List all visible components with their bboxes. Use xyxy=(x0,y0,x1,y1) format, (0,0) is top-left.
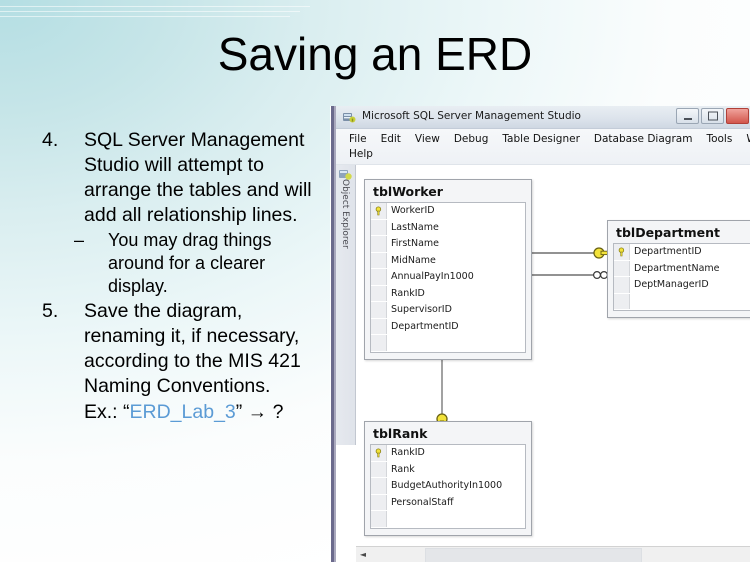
er-field-row[interactable]: AnnualPayIn1000 xyxy=(371,269,525,286)
er-field-label: RankID xyxy=(391,447,425,458)
list-item-text: You may drag things around for a clearer… xyxy=(108,229,320,298)
minimize-button[interactable] xyxy=(676,108,699,124)
er-field-label: RankID xyxy=(391,288,425,299)
er-field-row-empty[interactable] xyxy=(614,294,750,311)
er-field-label: FirstName xyxy=(391,238,439,249)
er-table-title: tblDepartment xyxy=(608,221,750,243)
object-explorer-label: Object Explorer xyxy=(340,179,350,245)
field-gutter xyxy=(371,286,387,302)
scroll-left-button[interactable]: ◄ xyxy=(356,548,370,561)
field-gutter xyxy=(371,253,387,269)
ssms-window-screenshot: Microsoft SQL Server Management Studio F… xyxy=(330,106,750,562)
ssms-window-inner: Microsoft SQL Server Management Studio F… xyxy=(336,106,750,562)
er-field-label: DepartmentID xyxy=(634,246,702,257)
decorative-band xyxy=(0,16,290,17)
menu-item-help[interactable]: Help xyxy=(342,148,380,160)
er-field-label: SupervisorID xyxy=(391,304,452,315)
er-field-row[interactable]: Rank xyxy=(371,462,525,479)
list-item-text: Save the diagram, renaming it, if necess… xyxy=(84,299,320,399)
er-field-label: WorkerID xyxy=(391,205,435,216)
field-gutter xyxy=(371,462,387,478)
er-field-list: DepartmentID DepartmentName DeptManagerI… xyxy=(613,243,750,311)
maximize-button[interactable] xyxy=(701,108,724,124)
er-field-row[interactable]: DepartmentID xyxy=(371,319,525,336)
er-field-list: RankID Rank BudgetAuthorityIn1000 P xyxy=(370,444,526,529)
menu-bar[interactable]: File Edit View Debug Table Designer Data… xyxy=(336,129,750,165)
er-field-row[interactable]: DeptManagerID xyxy=(614,277,750,294)
field-gutter xyxy=(371,319,387,335)
er-field-label: Rank xyxy=(391,464,415,475)
er-field-label: DepartmentID xyxy=(391,321,459,332)
er-field-label: DeptManagerID xyxy=(634,279,709,290)
er-field-label: LastName xyxy=(391,222,439,233)
scrollbar-thumb[interactable] xyxy=(425,548,642,562)
menu-item-database-diagram[interactable]: Database Diagram xyxy=(587,133,700,145)
menu-item-window[interactable]: Window xyxy=(739,133,750,145)
example-prefix: Ex.: “ xyxy=(84,401,130,423)
list-marker: – xyxy=(74,229,108,252)
horizontal-scrollbar[interactable]: ◄ xyxy=(356,546,750,562)
menu-item-view[interactable]: View xyxy=(408,133,447,145)
er-field-row[interactable]: MidName xyxy=(371,253,525,270)
menu-row-secondary: Help xyxy=(342,146,750,161)
er-field-label: BudgetAuthorityIn1000 xyxy=(391,480,502,491)
er-field-row-empty[interactable] xyxy=(371,511,525,528)
menu-item-debug[interactable]: Debug xyxy=(447,133,496,145)
field-gutter xyxy=(614,294,630,310)
field-gutter xyxy=(614,261,630,277)
er-field-label: AnnualPayIn1000 xyxy=(391,271,474,282)
er-field-row[interactable]: BudgetAuthorityIn1000 xyxy=(371,478,525,495)
er-field-row[interactable]: RankID xyxy=(371,445,525,462)
window-title-bar: Microsoft SQL Server Management Studio xyxy=(336,106,750,129)
example-accent-text: ERD_Lab_3 xyxy=(130,401,236,423)
list-item: 5. Save the diagram, renaming it, if nec… xyxy=(42,299,320,399)
er-field-row[interactable]: WorkerID xyxy=(371,203,525,220)
er-table-tbldepartment[interactable]: tblDepartment DepartmentID D xyxy=(607,220,750,318)
list-marker: 4. xyxy=(42,128,84,153)
field-gutter xyxy=(371,220,387,236)
er-field-row-empty[interactable] xyxy=(371,335,525,352)
menu-item-file[interactable]: File xyxy=(342,133,374,145)
er-table-tblworker[interactable]: tblWorker WorkerID LastName xyxy=(364,179,532,360)
list-item: 4. SQL Server Management Studio will att… xyxy=(42,128,320,228)
database-diagram-canvas[interactable]: tblWorker WorkerID LastName xyxy=(356,165,750,562)
er-field-label: DepartmentName xyxy=(634,263,720,274)
example-suffix: ” → ? xyxy=(236,401,284,423)
field-gutter xyxy=(371,495,387,511)
primary-key-icon xyxy=(374,206,384,216)
er-table-title: tblRank xyxy=(365,422,531,444)
list-item-text: SQL Server Management Studio will attemp… xyxy=(84,128,320,228)
page-title: Saving an ERD xyxy=(0,30,750,78)
decorative-band xyxy=(0,6,310,7)
list-item: – You may drag things around for a clear… xyxy=(42,229,320,298)
slide-body: 4. SQL Server Management Studio will att… xyxy=(42,128,320,425)
er-field-list: WorkerID LastName FirstName MidName xyxy=(370,202,526,353)
decorative-band xyxy=(0,11,300,12)
menu-item-tools[interactable]: Tools xyxy=(699,133,739,145)
er-field-row[interactable]: RankID xyxy=(371,286,525,303)
menu-row-primary: File Edit View Debug Table Designer Data… xyxy=(342,131,750,146)
window-controls[interactable] xyxy=(676,108,749,124)
er-field-row[interactable]: DepartmentName xyxy=(614,261,750,278)
presentation-slide: Saving an ERD 4. SQL Server Management S… xyxy=(0,0,750,562)
example-line: Ex.: “ERD_Lab_3” → ? xyxy=(42,400,320,425)
ssms-app-icon xyxy=(342,110,356,124)
scrollbar-track[interactable] xyxy=(370,548,750,561)
close-button[interactable] xyxy=(726,108,749,124)
field-gutter xyxy=(371,302,387,318)
field-gutter xyxy=(371,511,387,527)
field-gutter xyxy=(371,236,387,252)
er-table-tblrank[interactable]: tblRank RankID Rank xyxy=(364,421,532,536)
er-table-title: tblWorker xyxy=(365,180,531,202)
object-explorer-dock[interactable]: Object Explorer xyxy=(336,165,356,445)
field-gutter xyxy=(614,277,630,293)
er-field-label: MidName xyxy=(391,255,436,266)
er-field-row[interactable]: SupervisorID xyxy=(371,302,525,319)
field-gutter xyxy=(371,478,387,494)
er-field-label: PersonalStaff xyxy=(391,497,454,508)
er-field-row[interactable]: DepartmentID xyxy=(614,244,750,261)
primary-key-icon xyxy=(617,247,627,257)
er-field-row[interactable]: LastName xyxy=(371,220,525,237)
list-marker: 5. xyxy=(42,299,84,324)
er-field-row[interactable]: FirstName xyxy=(371,236,525,253)
field-gutter xyxy=(371,269,387,285)
window-title-text: Microsoft SQL Server Management Studio xyxy=(362,110,581,122)
primary-key-icon xyxy=(374,448,384,458)
field-gutter xyxy=(371,335,387,351)
menu-item-table-designer[interactable]: Table Designer xyxy=(495,133,587,145)
er-field-row[interactable]: PersonalStaff xyxy=(371,495,525,512)
menu-item-edit[interactable]: Edit xyxy=(374,133,408,145)
